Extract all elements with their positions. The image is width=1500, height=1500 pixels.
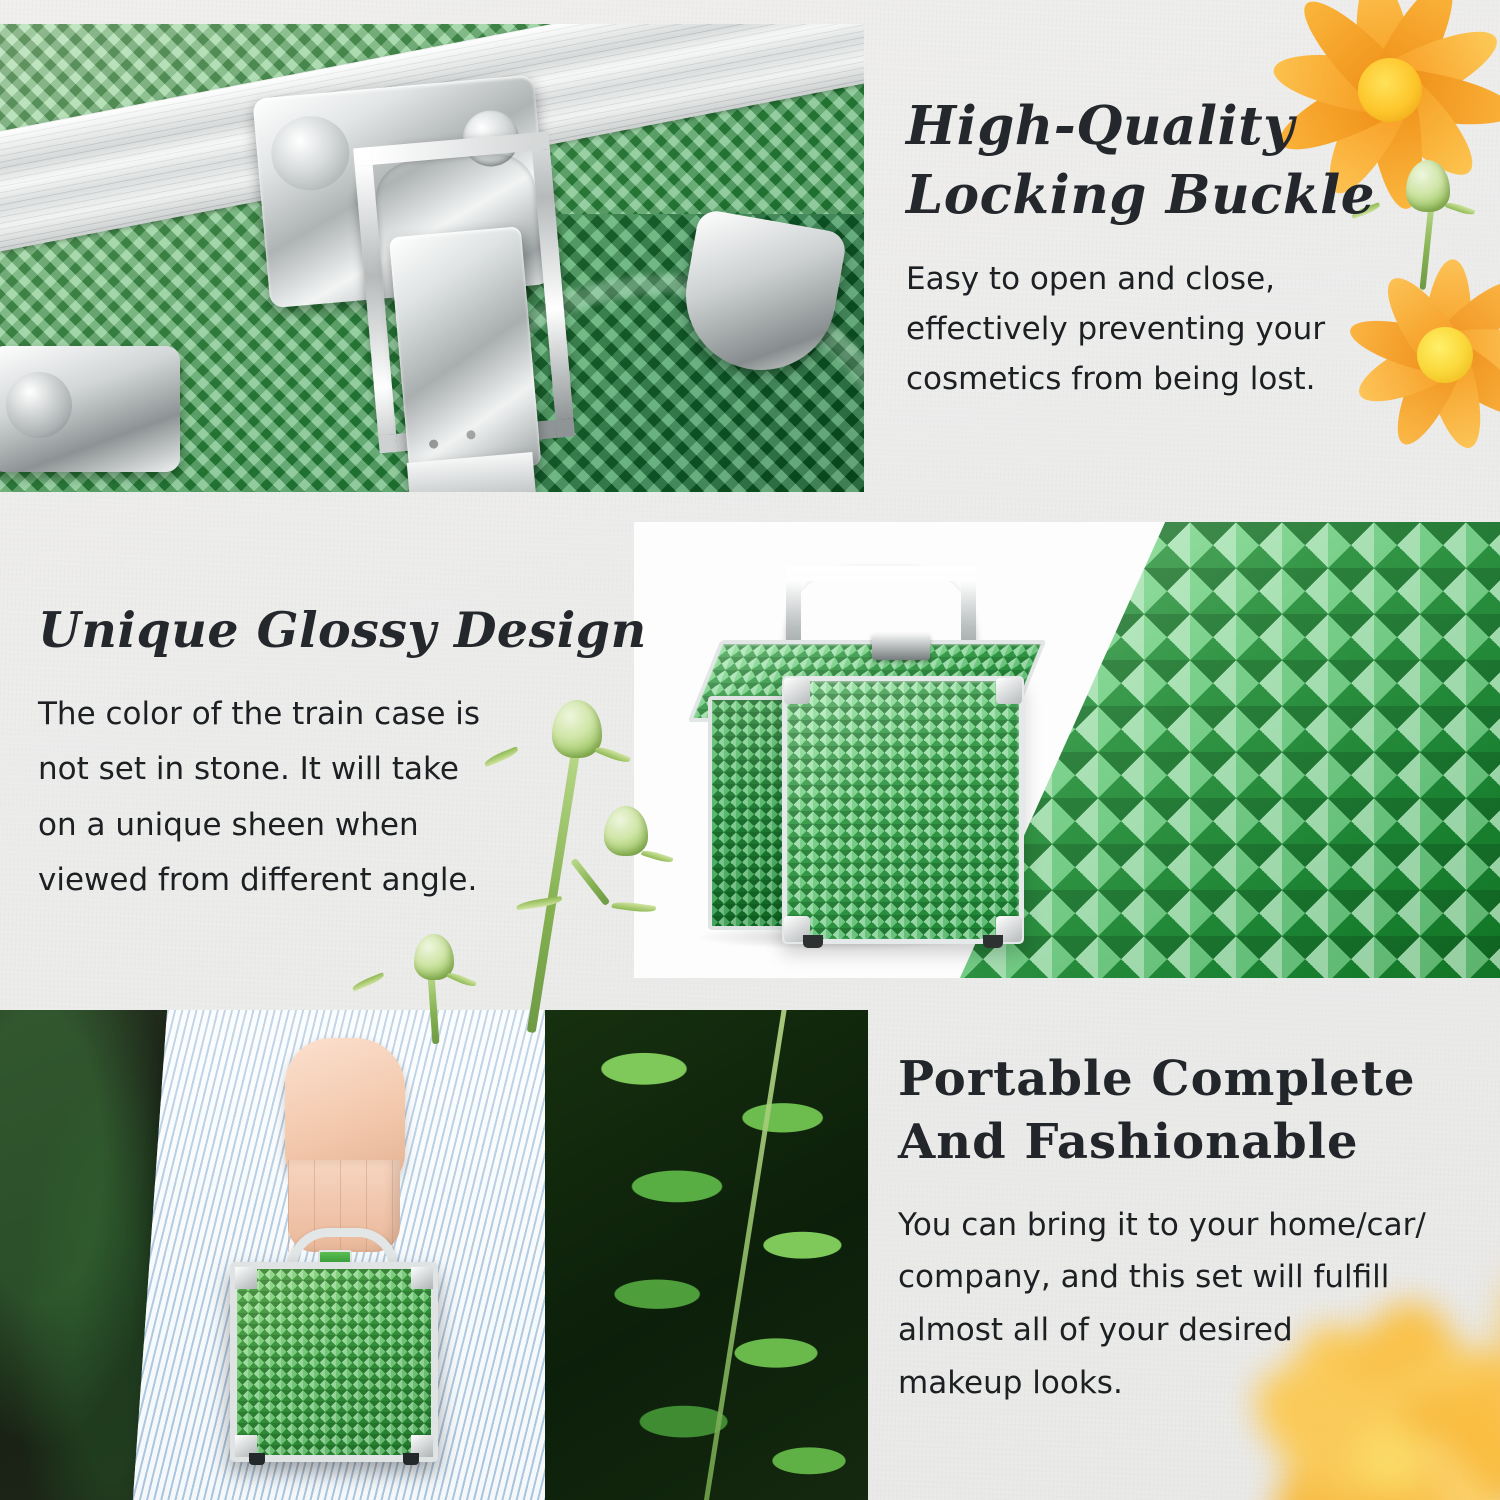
body-line-3: cosmetics from being lost. [906, 354, 1376, 404]
heading-line-2: And Fashionable [898, 1111, 1438, 1174]
feature-heading-portable-fashionable: Portable Complete And Fashionable [898, 1048, 1438, 1175]
corner-guard-tr [996, 678, 1022, 704]
case-clasp [872, 634, 930, 660]
green-flower-bud-top-icon [1398, 160, 1458, 280]
locking-buckle-assembly [252, 74, 567, 467]
body-line-1: You can bring it to your home/car/ [898, 1199, 1438, 1252]
feature-heading-glossy-design: Unique Glossy Design [38, 600, 538, 661]
body-line-1: Easy to open and close, [906, 254, 1376, 304]
case-foot-right [983, 935, 1003, 948]
heading-line-1: Portable Complete [898, 1048, 1438, 1111]
handle-bracket-left [0, 346, 180, 472]
buckle-tongue [389, 226, 541, 477]
carried-train-case [230, 1262, 438, 1462]
heading-line-1: High-Quality [906, 92, 1376, 161]
train-case-product [698, 568, 1028, 938]
body-line-2: effectively preventing your [906, 304, 1376, 354]
body-line-1: The color of the train case is [38, 687, 538, 742]
carried-foot-left [249, 1453, 265, 1465]
green-flower-bud-small-icon [388, 930, 498, 1040]
carried-case-body [230, 1262, 438, 1462]
body-line-3: on a unique sheen when [38, 798, 538, 853]
feature-body-glossy-design: The color of the train case is not set i… [38, 687, 538, 908]
heading-line-1: Unique Glossy Design [38, 600, 538, 661]
feature-block-portable-fashionable: Portable Complete And Fashionable You ca… [898, 1048, 1438, 1409]
carried-corner-tr [411, 1267, 433, 1289]
carried-foot-right [403, 1453, 419, 1465]
corner-guard-tl [784, 678, 810, 704]
body-line-2: company, and this set will fulfill [898, 1251, 1438, 1304]
feature-heading-locking-buckle: High-Quality Locking Buckle [906, 92, 1376, 230]
photo-lifestyle-outdoor [0, 1010, 868, 1500]
body-line-4: viewed from different angle. [38, 853, 538, 908]
case-front-panel [782, 676, 1024, 944]
infographic-canvas: High-Quality Locking Buckle Easy to open… [0, 0, 1500, 1500]
feature-body-locking-buckle: Easy to open and close, effectively prev… [906, 254, 1376, 405]
body-line-2: not set in stone. It will take [38, 742, 538, 797]
green-leaves [545, 1010, 868, 1500]
photo-product-and-texture [634, 522, 1500, 978]
heading-line-2: Locking Buckle [906, 161, 1376, 230]
flower-core [1417, 327, 1473, 383]
feature-block-glossy-design: Unique Glossy Design The color of the tr… [38, 600, 538, 908]
feature-block-locking-buckle: High-Quality Locking Buckle Easy to open… [906, 92, 1376, 404]
carried-corner-tl [235, 1267, 257, 1289]
case-foot-left [803, 935, 823, 948]
body-line-4: makeup looks. [898, 1357, 1438, 1410]
feature-body-portable-fashionable: You can bring it to your home/car/ compa… [898, 1199, 1438, 1410]
body-line-3: almost all of your desired [898, 1304, 1438, 1357]
photo-buckle-closeup [0, 24, 864, 492]
